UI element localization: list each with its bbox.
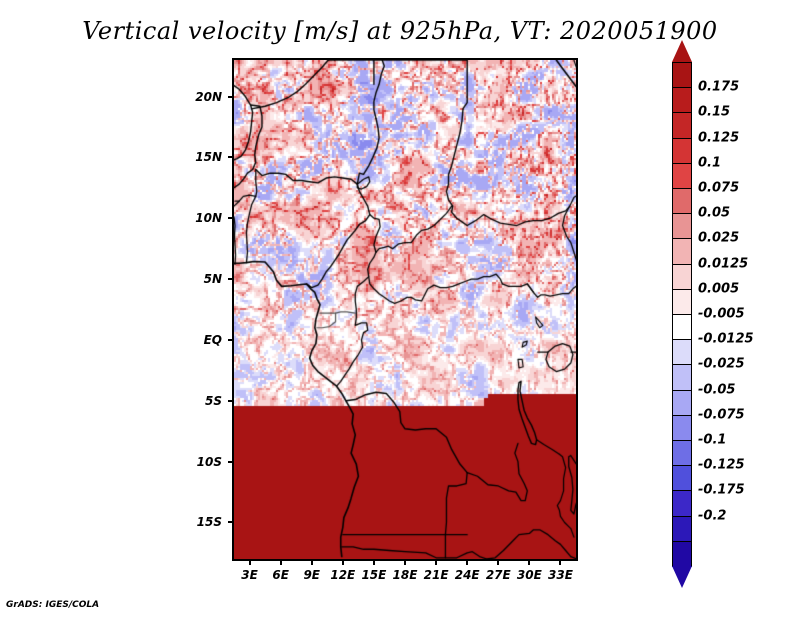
x-axis-label: 30E <box>517 568 542 582</box>
colorbar-band <box>672 390 692 416</box>
colorbar-band <box>672 516 692 542</box>
colorbar-band <box>672 440 692 466</box>
y-axis-label: 15S <box>174 515 222 529</box>
x-axis-label: 15E <box>361 568 386 582</box>
x-axis-label: 33E <box>548 568 573 582</box>
x-axis-label: 24E <box>455 568 480 582</box>
y-tick-mark <box>228 400 234 402</box>
colorbar-tick-label: -0.2 <box>698 508 726 523</box>
colorbar-tick-label: -0.05 <box>698 382 735 397</box>
colorbar-band <box>672 314 692 340</box>
x-axis-label: 3E <box>241 568 258 582</box>
x-tick-mark <box>342 559 344 565</box>
colorbar-tick-label: 0.1 <box>698 155 721 170</box>
colorbar-tick-label: -0.025 <box>698 357 745 372</box>
colorbar-tick-label: 0.0125 <box>698 256 748 271</box>
colorbar-tick-label: -0.125 <box>698 458 745 473</box>
colorbar-tick-label: -0.1 <box>698 433 726 448</box>
colorbar-band <box>672 415 692 441</box>
grads-plot-page: Vertical velocity [m/s] at 925hPa, VT: 2… <box>0 0 800 618</box>
x-axis-label: 6E <box>272 568 289 582</box>
colorbar-tick-label: 0.05 <box>698 206 730 221</box>
y-axis-label: EQ <box>174 333 222 347</box>
colorbar-top-arrow <box>672 40 692 62</box>
colorbar-band <box>672 62 692 88</box>
colorbar-band <box>672 490 692 516</box>
colorbar-band <box>672 112 692 138</box>
y-axis-label: 10N <box>174 211 222 225</box>
colorbar-tick-label: -0.0125 <box>698 332 754 347</box>
x-tick-mark <box>373 559 375 565</box>
x-axis-label: 18E <box>393 568 418 582</box>
x-tick-mark <box>528 559 530 565</box>
colorbar-tick-label: -0.075 <box>698 407 745 422</box>
colorbar-tick-label: -0.175 <box>698 483 745 498</box>
colorbar-tick-label: 0.025 <box>698 231 739 246</box>
colorbar-band <box>672 87 692 113</box>
y-axis-label: 5S <box>174 394 222 408</box>
colorbar-band <box>672 364 692 390</box>
x-axis-label: 27E <box>486 568 511 582</box>
colorbar-band <box>672 138 692 164</box>
x-tick-mark <box>404 559 406 565</box>
colorbar-tick-label: 0.075 <box>698 181 739 196</box>
colorbar-band <box>672 541 692 567</box>
y-tick-mark <box>228 96 234 98</box>
map-plot-area <box>232 58 578 561</box>
x-tick-mark <box>311 559 313 565</box>
colorbar-band <box>672 465 692 491</box>
colorbar-tick-label: 0.15 <box>698 105 730 120</box>
colorbar-bottom-arrow <box>672 566 692 588</box>
colorbar-band <box>672 163 692 189</box>
grads-credit: GrADS: IGES/COLA <box>6 600 99 610</box>
colorbar-band <box>672 264 692 290</box>
y-axis-label: 5N <box>174 272 222 286</box>
x-tick-mark <box>466 559 468 565</box>
colorbar-tick-label: 0.125 <box>698 130 739 145</box>
vertical-velocity-field <box>234 60 576 559</box>
x-axis-label: 12E <box>330 568 355 582</box>
y-tick-mark <box>228 217 234 219</box>
x-tick-mark <box>249 559 251 565</box>
y-tick-mark <box>228 461 234 463</box>
colorbar-band <box>672 213 692 239</box>
x-axis-label: 9E <box>303 568 320 582</box>
x-tick-mark <box>435 559 437 565</box>
colorbar-band <box>672 289 692 315</box>
x-tick-mark <box>559 559 561 565</box>
colorbar-tick-label: 0.175 <box>698 80 739 95</box>
colorbar-band <box>672 238 692 264</box>
x-tick-mark <box>280 559 282 565</box>
y-tick-mark <box>228 156 234 158</box>
x-tick-mark <box>497 559 499 565</box>
colorbar-tick-label: -0.005 <box>698 307 745 322</box>
y-axis-label: 10S <box>174 455 222 469</box>
y-axis-label: 20N <box>174 90 222 104</box>
x-axis-label: 21E <box>424 568 449 582</box>
y-tick-mark <box>228 521 234 523</box>
colorbar-tick-label: 0.005 <box>698 281 739 296</box>
y-tick-mark <box>228 278 234 280</box>
y-axis-label: 15N <box>174 150 222 164</box>
colorbar-band <box>672 188 692 214</box>
y-tick-mark <box>228 339 234 341</box>
colorbar-band <box>672 339 692 365</box>
